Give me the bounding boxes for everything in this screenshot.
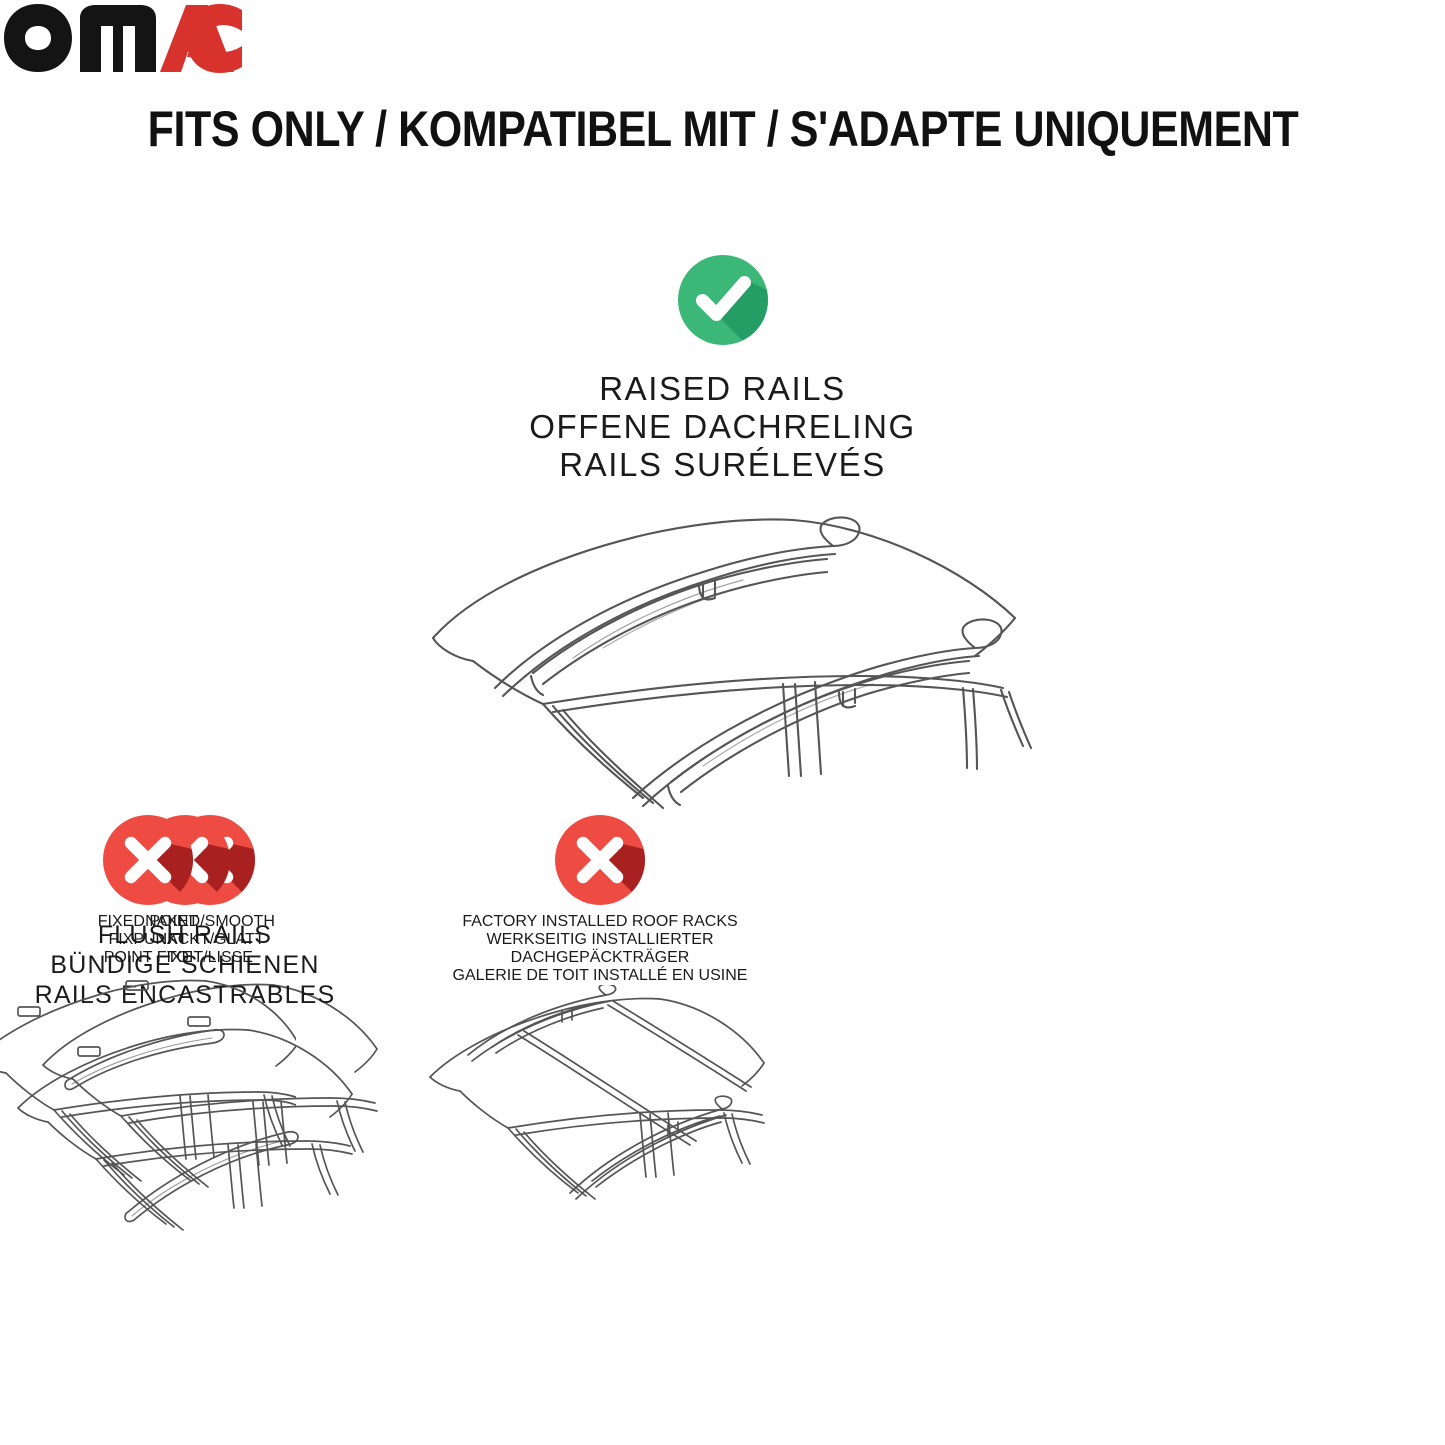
check-circle-icon bbox=[675, 252, 771, 348]
compatible-label-de: OFFENE DACHRELING bbox=[0, 408, 1445, 446]
label-group-fixed-point: FIXED POINT FIXPUNKT POINT FIXE bbox=[0, 913, 296, 967]
label-factory-racks-de-1: WERKSEITIG INSTALLIERTER bbox=[390, 931, 810, 949]
label-factory-racks-de-2: DACHGEPÄCKTRÄGER bbox=[390, 949, 810, 967]
page-title-text: FITS ONLY / KOMPATIBEL MIT / S'ADAPTE UN… bbox=[147, 104, 1298, 154]
car-roof-fixed-point-svg bbox=[0, 967, 296, 1207]
x-circle-svg bbox=[552, 812, 648, 908]
label-fixed-point-en: FIXED POINT bbox=[0, 913, 296, 931]
label-factory-racks-fr: GALERIE DE TOIT INSTALLÉ EN USINE bbox=[390, 967, 810, 985]
label-group-factory-racks: FACTORY INSTALLED ROOF RACKS WERKSEITIG … bbox=[390, 913, 810, 985]
incompatible-sections: NAKED/SMOOTH NACKT/GLATT TOIT/LISSE bbox=[0, 812, 1445, 1252]
compatible-labels: RAISED RAILS OFFENE DACHRELING RAILS SUR… bbox=[0, 370, 1445, 484]
x-circle-svg bbox=[100, 812, 196, 908]
compatible-label-en: RAISED RAILS bbox=[0, 370, 1445, 408]
omac-logo-svg bbox=[0, 0, 250, 76]
page-title: FITS ONLY / KOMPATIBEL MIT / S'ADAPTE UN… bbox=[0, 104, 1445, 154]
check-circle-svg bbox=[675, 252, 771, 348]
compatible-label-fr: RAILS SURÉLEVÉS bbox=[0, 446, 1445, 484]
car-roof-factory-roof-racks-svg bbox=[410, 985, 790, 1225]
omac-logo-letter-m bbox=[80, 5, 156, 72]
incompatible-column-fixed-point: FIXED POINT FIXPUNKT POINT FIXE bbox=[0, 812, 296, 1212]
car-roof-factory-roof-racks-illustration bbox=[390, 985, 810, 1230]
incompatible-column-factory-racks: FACTORY INSTALLED ROOF RACKS WERKSEITIG … bbox=[390, 812, 810, 1230]
car-roof-raised-rails-svg bbox=[403, 498, 1043, 828]
label-factory-racks-en: FACTORY INSTALLED ROOF RACKS bbox=[390, 913, 810, 931]
omac-logo bbox=[0, 0, 1445, 81]
label-fixed-point-fr: POINT FIXE bbox=[0, 949, 296, 967]
car-roof-fixed-point-illustration bbox=[0, 967, 296, 1212]
x-circle-icon bbox=[390, 812, 810, 913]
car-roof-raised-rails-illustration bbox=[0, 498, 1445, 833]
compatible-section: RAISED RAILS OFFENE DACHRELING RAILS SUR… bbox=[0, 252, 1445, 484]
label-fixed-point-de: FIXPUNKT bbox=[0, 931, 296, 949]
omac-logo-letter-o bbox=[4, 4, 72, 72]
x-circle-icon bbox=[0, 812, 296, 913]
